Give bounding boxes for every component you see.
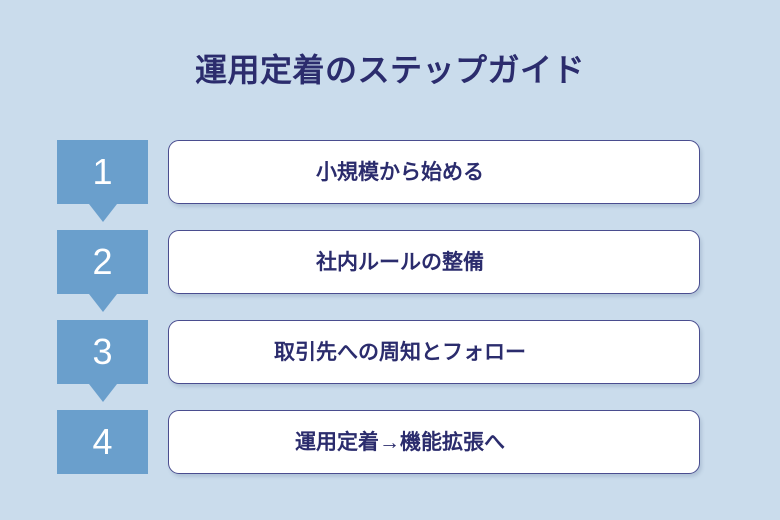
- step-label-box-4[interactable]: 運用定着→機能拡張へ: [168, 410, 700, 474]
- step-badge-3: 3: [57, 320, 148, 384]
- step-label-box-2[interactable]: 社内ルールの整備: [168, 230, 700, 294]
- step-number-1: 1: [92, 154, 112, 190]
- step-connector-arrow-1: [57, 204, 148, 222]
- step-badge-2: 2: [57, 230, 148, 294]
- steps-list: 1 小規模から始める 2 社内ルールの整備 3 取引先への周知: [0, 140, 780, 500]
- step-row: 2 社内ルールの整備: [0, 230, 780, 320]
- step-row: 4 運用定着→機能拡張へ: [0, 410, 780, 500]
- step-badge-4: 4: [57, 410, 148, 474]
- step-label-box-3[interactable]: 取引先への周知とフォロー: [168, 320, 700, 384]
- step-number-2: 2: [92, 244, 112, 280]
- step-row: 3 取引先への周知とフォロー: [0, 320, 780, 410]
- page-title: 運用定着のステップガイド: [0, 50, 780, 90]
- step-guide-infographic: 運用定着のステップガイド 1 小規模から始める 2 社内ルールの整備: [0, 0, 780, 520]
- step-label-4: 運用定着→機能拡張へ: [295, 432, 505, 453]
- step-label-3: 取引先への周知とフォロー: [274, 342, 526, 363]
- step-row: 1 小規模から始める: [0, 140, 780, 230]
- step-connector-arrow-3: [57, 384, 148, 402]
- step-label-1: 小規模から始める: [316, 162, 484, 183]
- step-number-4: 4: [92, 424, 112, 460]
- step-label-box-1[interactable]: 小規模から始める: [168, 140, 700, 204]
- step-badge-1: 1: [57, 140, 148, 204]
- step-connector-arrow-2: [57, 294, 148, 312]
- step-number-3: 3: [92, 334, 112, 370]
- step-label-2: 社内ルールの整備: [316, 252, 484, 273]
